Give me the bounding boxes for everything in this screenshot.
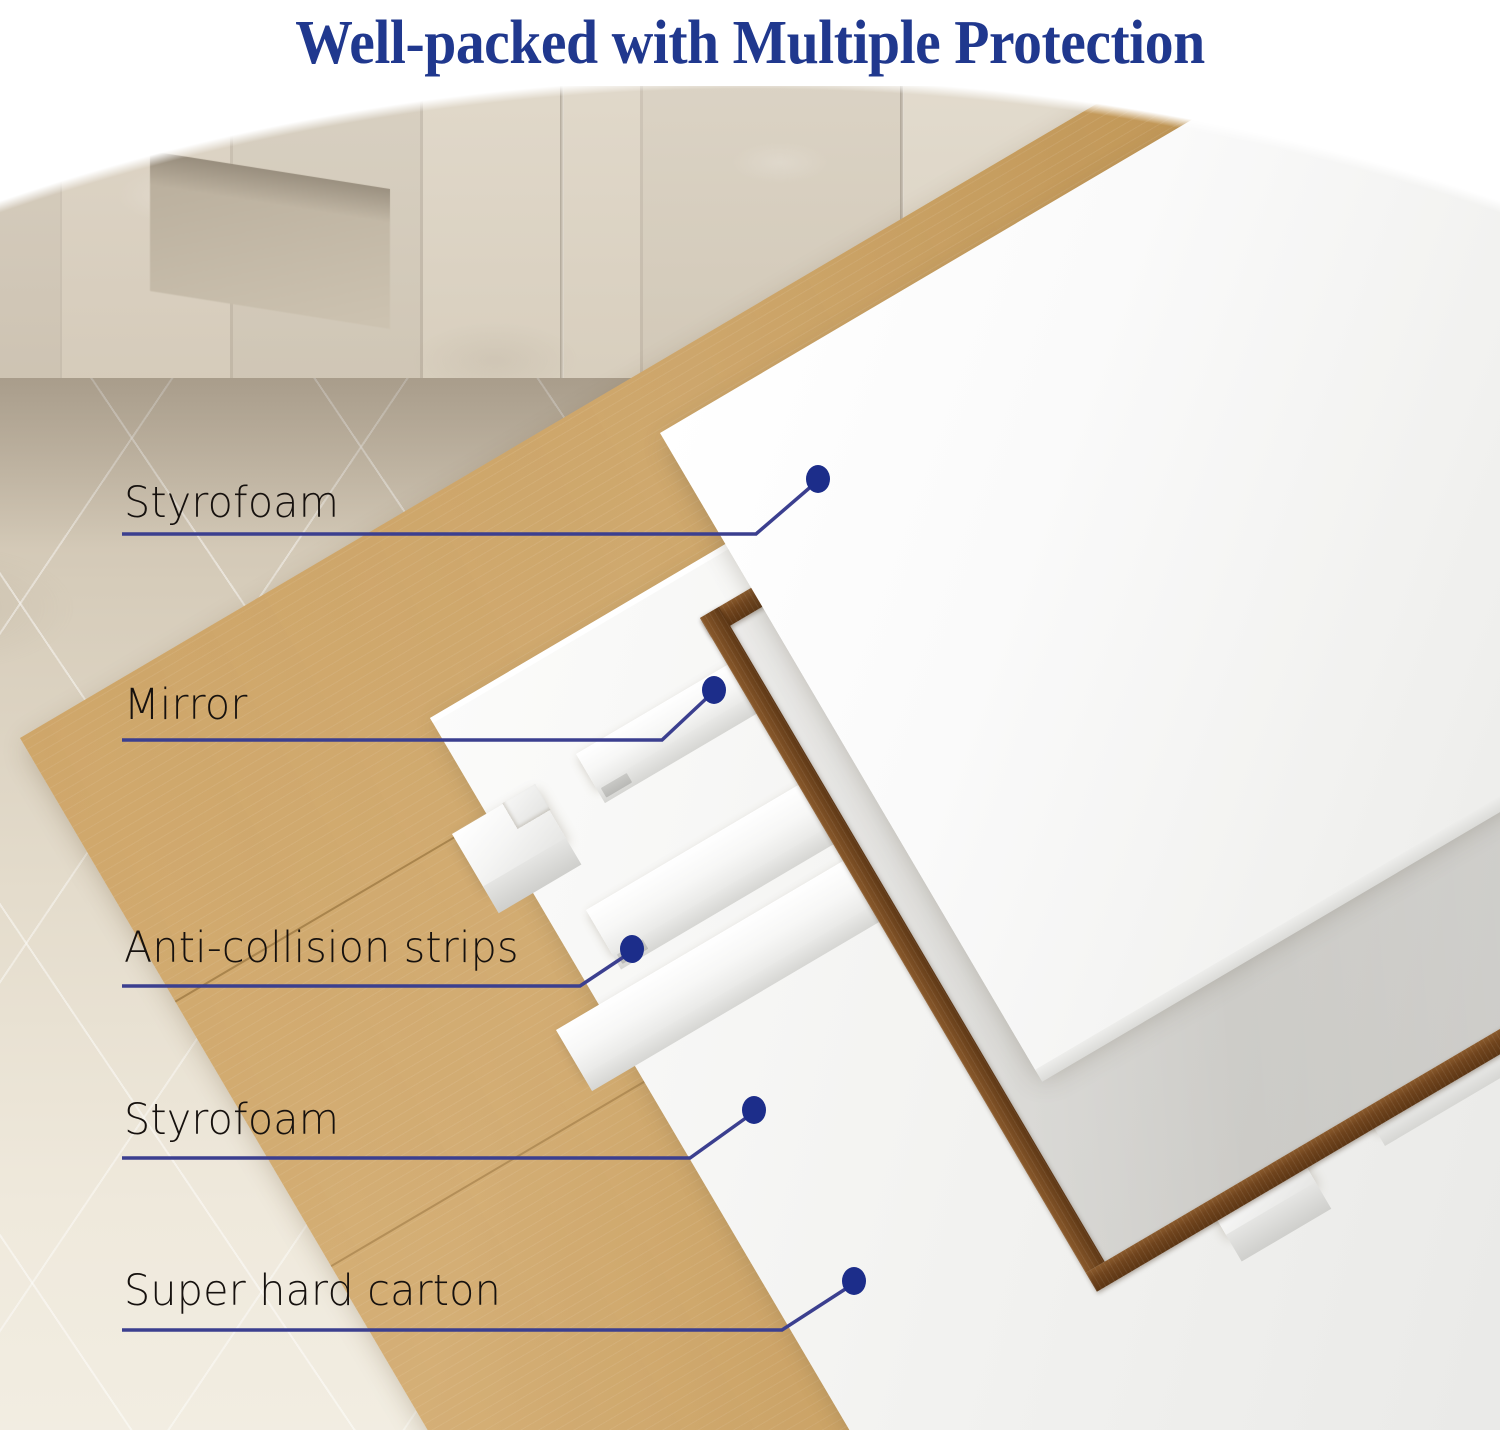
leader-dot [842,1267,866,1295]
page-title: Well-packed with Multiple Protection [295,12,1204,74]
title-bar: Well-packed with Multiple Protection [0,0,1500,86]
infographic-page: Well-packed with Multiple Protection [0,0,1500,1430]
callout-layer: Styrofoam Mirror Anti-collision strips [0,78,1500,1430]
callout-label-super-hard-carton: Super hard carton [124,1266,501,1316]
callout-leader-carton [0,78,1500,1430]
